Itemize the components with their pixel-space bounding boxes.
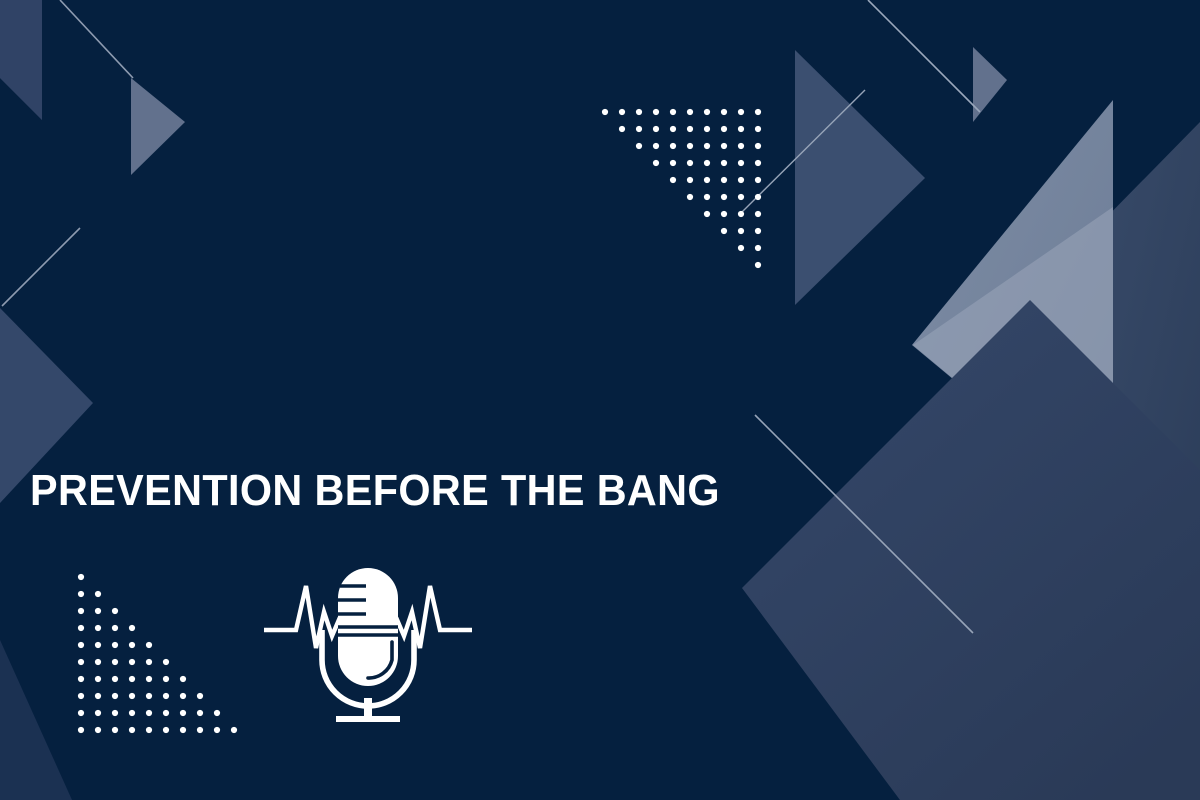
slide-canvas: PREVENTION BEFORE THE BANG [0,0,1200,800]
microphone-waveform-logo [262,556,474,736]
page-title: PREVENTION BEFORE THE BANG [30,468,720,514]
dot-pattern-top [596,103,776,283]
dot-pattern-bottom [72,568,252,748]
mic-base [336,716,400,722]
title-block: PREVENTION BEFORE THE BANG [30,468,764,514]
